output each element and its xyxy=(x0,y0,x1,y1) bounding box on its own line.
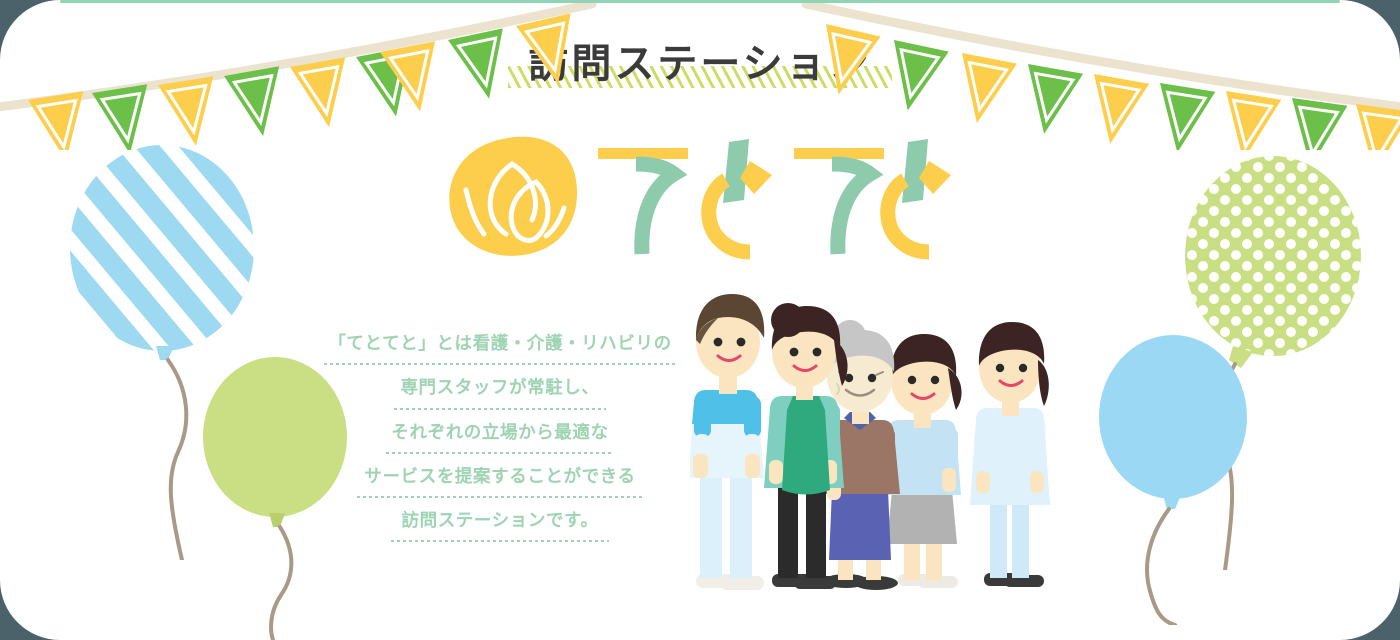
description-line: 「てとてと」とは看護・介護・リハビリの xyxy=(300,330,700,365)
logo-char-te-1 xyxy=(598,148,688,254)
person-male-nurse xyxy=(690,294,764,590)
logo-char-te-2 xyxy=(794,148,884,254)
bunting-decoration xyxy=(0,0,1400,150)
balloon-blue-solid xyxy=(1085,335,1265,625)
bunting-flag-group-right xyxy=(811,24,1400,150)
bunting-flag-group-left xyxy=(28,13,585,150)
page-root: 訪問ステーション xyxy=(0,0,1400,640)
description-line: サービスを提案することができる xyxy=(300,463,700,498)
top-accent-line xyxy=(60,0,1340,3)
description-line: 訪問ステーションです。 xyxy=(300,507,700,542)
leaf-mark-icon xyxy=(449,137,577,256)
description-line: 専門スタッフが常駐し、 xyxy=(300,374,700,409)
logo-char-to-1 xyxy=(709,139,772,252)
care-team-illustration xyxy=(690,268,1080,613)
hero-card: 訪問ステーション xyxy=(0,0,1400,640)
description-line: それぞれの立場から最適な xyxy=(300,419,700,454)
person-female-nurse xyxy=(970,322,1050,587)
logo-char-to-2 xyxy=(888,139,951,252)
logo-tetoteto xyxy=(440,128,980,278)
description-block: 「てとてと」とは看護・介護・リハビリの 専門スタッフが常駐し、 それぞれの立場か… xyxy=(300,330,700,551)
